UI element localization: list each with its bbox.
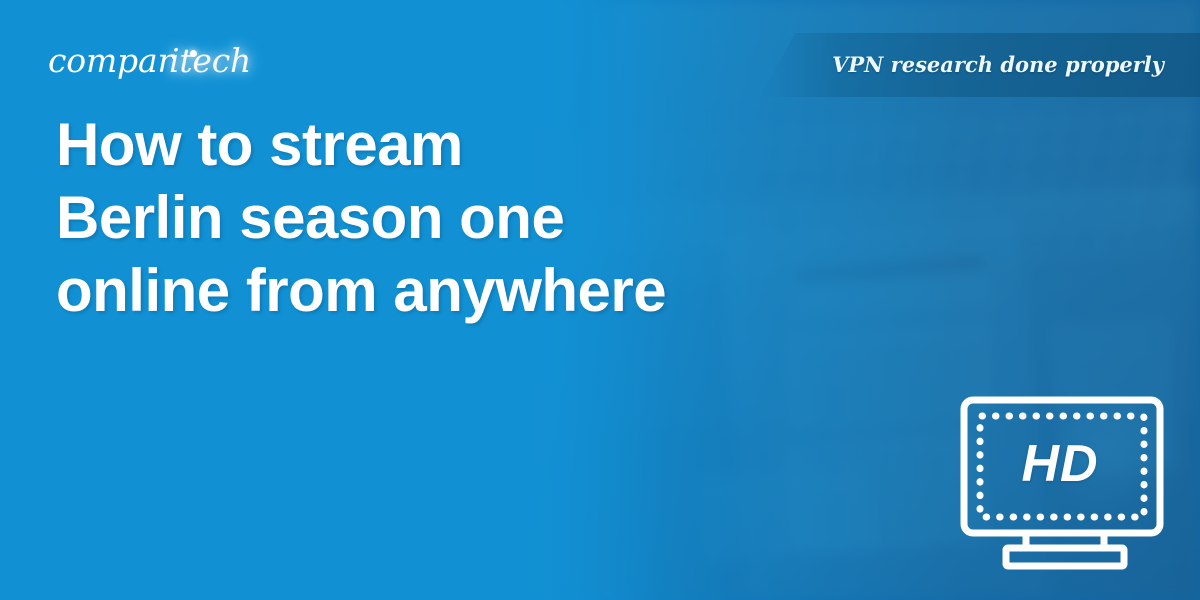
headline-line-1: How to stream xyxy=(56,108,816,181)
headline-line-3: online from anywhere xyxy=(56,254,816,327)
hd-monitor-icon: HD xyxy=(960,396,1170,571)
hero-banner: comparitech VPN research done properly H… xyxy=(0,0,1200,600)
tagline-text: VPN research done properly xyxy=(832,54,1164,75)
logo-text-secondary: itech xyxy=(169,41,251,80)
page-title: How to stream Berlin season one online f… xyxy=(56,108,816,327)
logo-text-primary: compar xyxy=(48,41,173,80)
comparitech-logo[interactable]: comparitech xyxy=(48,44,251,77)
headline-line-2: Berlin season one xyxy=(56,181,816,254)
